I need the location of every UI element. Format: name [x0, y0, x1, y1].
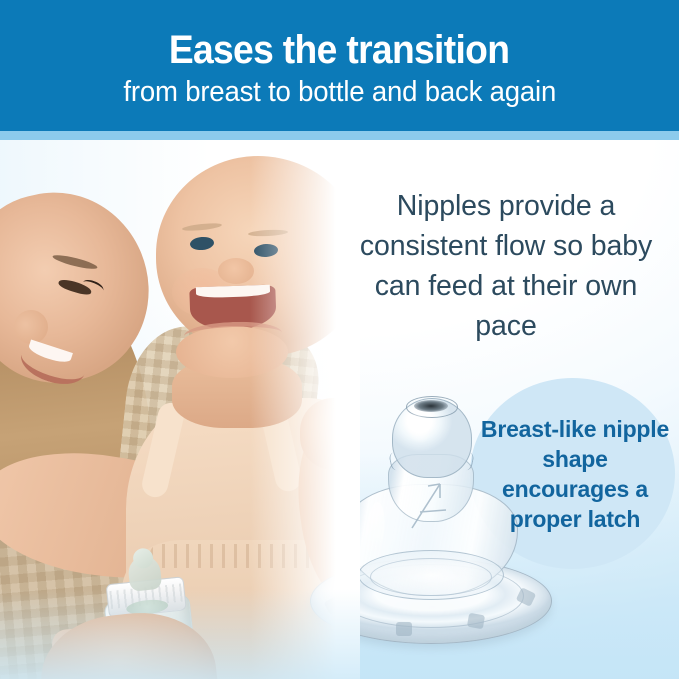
callout-text: Breast-like nipple shape encourages a pr…: [480, 414, 670, 534]
photo-bottom-fade: [0, 589, 360, 679]
banner-accent-strip: [0, 131, 679, 140]
banner-title: Eases the transition: [169, 27, 509, 73]
header-banner: Eases the transition from breast to bott…: [0, 0, 679, 131]
lifestyle-photo: [0, 140, 360, 679]
product-feature-image: Eases the transition from breast to bott…: [0, 0, 679, 679]
banner-subtitle: from breast to bottle and back again: [123, 75, 556, 109]
nipple-mold-mark-icon: [406, 470, 452, 532]
nipple-bowl-inner-rim: [370, 558, 492, 596]
baby-nose: [218, 258, 254, 284]
body-copy-text: Nipples provide a consistent flow so bab…: [356, 186, 656, 346]
